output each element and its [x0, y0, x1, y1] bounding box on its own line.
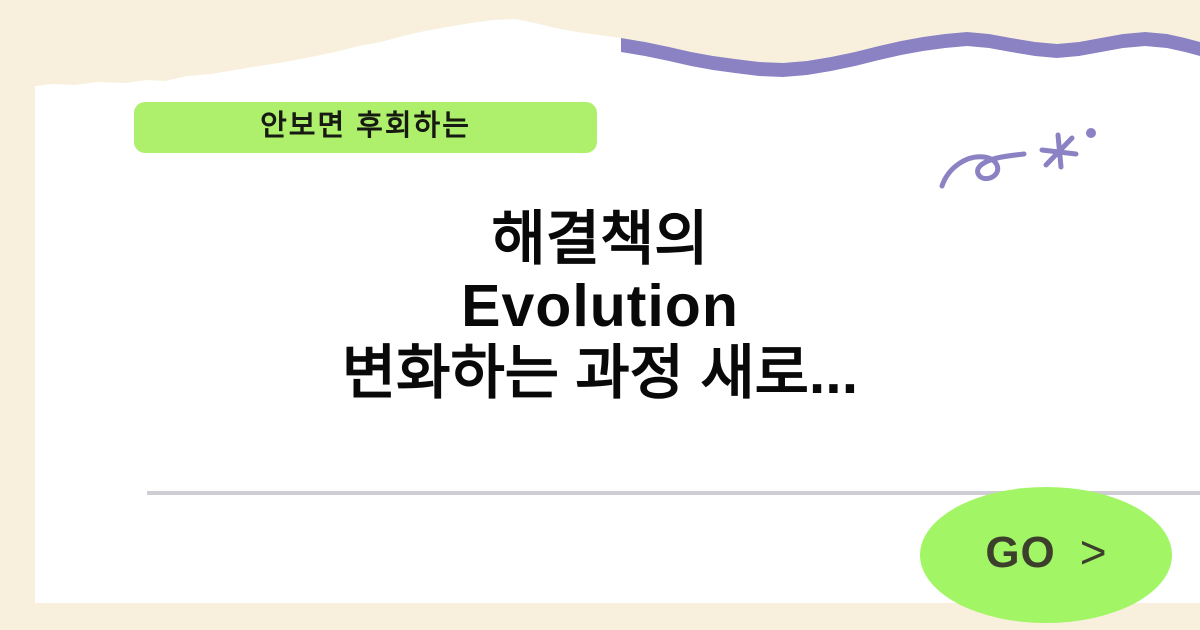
- go-button[interactable]: GO >: [920, 487, 1172, 623]
- dot-doodle: [1086, 128, 1096, 138]
- title-line-1: 해결책의: [35, 206, 1165, 273]
- promo-card-canvas: 안보면 후회하는 해결책의 Evolution 변화하는 과정 새로...: [0, 0, 1200, 630]
- page-title: 해결책의 Evolution 변화하는 과정 새로...: [35, 206, 1165, 407]
- eyebrow-badge-label: 안보면 후회하는: [260, 112, 471, 141]
- eyebrow-badge: 안보면 후회하는: [134, 102, 597, 153]
- swirl-doodle: [942, 154, 1024, 186]
- go-button-label: GO: [985, 531, 1055, 575]
- doodle-ornament: [930, 112, 1130, 212]
- sparkle-doodle: [1042, 135, 1076, 167]
- title-line-3: 변화하는 과정 새로...: [35, 340, 1165, 407]
- title-line-2: Evolution: [35, 273, 1165, 340]
- chevron-right-icon: >: [1080, 529, 1107, 575]
